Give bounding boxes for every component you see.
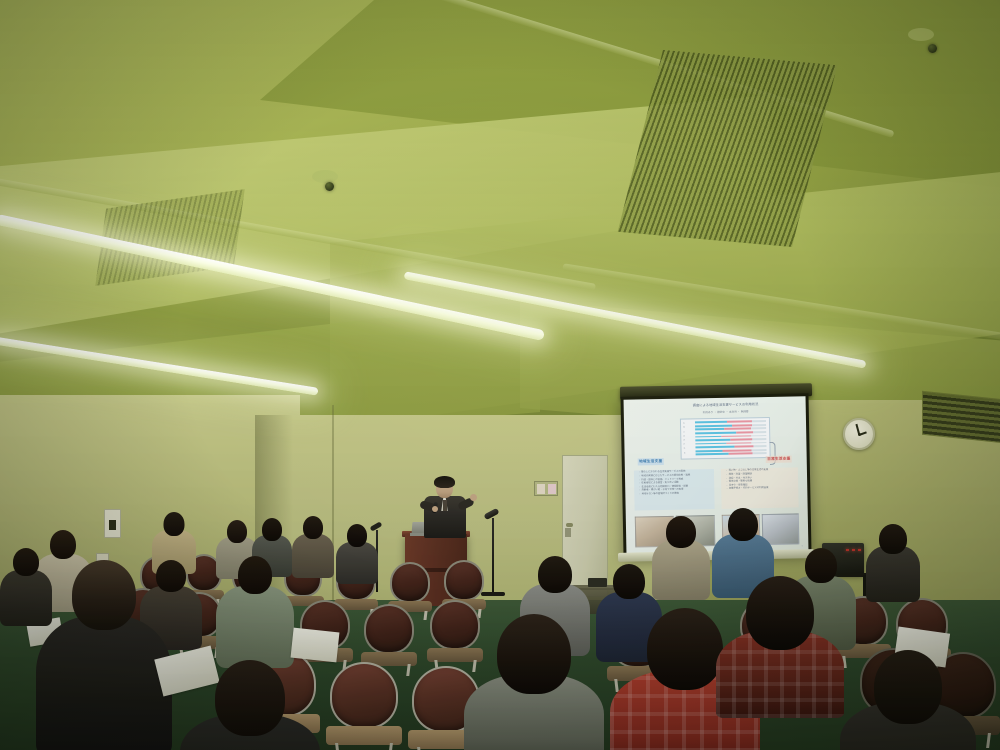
- chart-bars: [694, 420, 766, 455]
- slide-subheadline: 利用あり ・ 検討中 ・ 未利用 ・ 無回答: [682, 410, 769, 415]
- attendee-head: [303, 516, 323, 539]
- attendee-back-far-right: [336, 524, 378, 580]
- slide-panel-left: 暮らしにかかわる生活支援サービスの実施 地域の実情に応じたサービスの提供体制・連…: [634, 469, 715, 511]
- attendee-back-right: [292, 516, 334, 574]
- attendee-head: [164, 512, 185, 536]
- chart-row-label: D: [683, 435, 693, 438]
- chart-row-labels: A B C D E F G H: [682, 422, 694, 456]
- chart-row-label: G: [684, 448, 694, 451]
- attendee-head: [647, 608, 723, 690]
- attendee-green-sweater: [216, 556, 294, 666]
- light-switch-toggle[interactable]: [109, 520, 116, 530]
- attendee-front-right-dark: [840, 650, 976, 750]
- microphone-stand: [492, 518, 494, 596]
- attendee-body: [216, 586, 294, 668]
- attendee-front-left-suit: [36, 560, 172, 750]
- attendee-body: [36, 616, 172, 750]
- handout-paper: [291, 628, 340, 663]
- chart-row-label: A: [683, 422, 693, 425]
- attendee-head: [50, 530, 76, 559]
- door-handle[interactable]: [566, 523, 573, 527]
- wall-vent-grille: [922, 391, 1000, 444]
- amplifier-led: [858, 549, 861, 551]
- sprinkler-head-right: [928, 44, 937, 53]
- attendee-head: [497, 614, 571, 694]
- slide-headline: 調査による地域生活支援サービスの利用状況: [678, 402, 773, 408]
- attendee-head: [227, 520, 247, 543]
- light-switch-plate[interactable]: [104, 509, 121, 538]
- chart-row-label: E: [684, 439, 694, 442]
- sprinkler-plate-left: [312, 170, 338, 183]
- chart-row-label: H: [684, 452, 694, 455]
- attendee-head: [262, 518, 282, 541]
- chair-empty: [330, 662, 398, 750]
- wall-sign-panel-left: [537, 484, 545, 494]
- attendee-body: [336, 542, 378, 584]
- chart-row-label: F: [684, 444, 694, 447]
- attendee-head: [879, 524, 907, 554]
- sprinkler-plate-right: [908, 28, 934, 41]
- attendee-grey-hoodie: [464, 614, 604, 750]
- attendee-head: [728, 508, 758, 541]
- slide-bullet: 各種手続き・代行サービスの利用支援: [727, 487, 796, 492]
- clock-center-pin: [858, 433, 861, 436]
- attendee-body: [292, 534, 334, 578]
- attendee-head: [215, 660, 285, 736]
- attendee-head: [538, 556, 572, 593]
- attendee-head: [666, 516, 696, 548]
- slide-bar-chart: A B C D E F G H: [680, 417, 770, 459]
- attendee-right-far: [866, 524, 920, 598]
- presenter-hand-left: [432, 506, 438, 512]
- attendee-head: [72, 560, 136, 630]
- sprinkler-head-left: [325, 182, 334, 191]
- lecture-hall-photo: 調査による地域生活支援サービスの利用状況 利用あり ・ 検討中 ・ 未利用 ・ …: [0, 0, 1000, 750]
- slide-panel-right: 買い物・ゴミ出し等の日常生活の支援 掃除・洗濯・調理補助 送迎・外出・付き添い …: [721, 467, 798, 508]
- door-strike-plate: [565, 528, 571, 537]
- attendee-head: [347, 524, 367, 547]
- attendee-head: [613, 564, 645, 599]
- attendee-head: [238, 556, 272, 594]
- attendee-body: [866, 546, 920, 602]
- attendee-front-far-left: [180, 660, 320, 750]
- presenter-hair: [434, 476, 455, 488]
- attendee-dark-plaid: [716, 576, 844, 706]
- wall-clock: [843, 418, 875, 450]
- attendee-head: [746, 576, 814, 650]
- chart-row-label: C: [683, 431, 693, 434]
- microphone-stand-base: [481, 592, 505, 596]
- slide-bullet: 地域サロン等の居場所づくりの推進: [639, 492, 712, 497]
- attendee-head: [874, 650, 942, 724]
- wall-sign-panel-right: [548, 484, 556, 494]
- presenter-tie: [443, 500, 447, 511]
- wall-signage-plate: [534, 481, 558, 496]
- slide-label-left: 地域生活支援: [637, 458, 664, 465]
- slide-label-right: 日常生活支援: [766, 456, 793, 463]
- presenter: [418, 478, 474, 538]
- chart-row-label: B: [683, 427, 693, 430]
- chart-bar: [695, 452, 767, 455]
- presenter-hand-right: [470, 494, 477, 501]
